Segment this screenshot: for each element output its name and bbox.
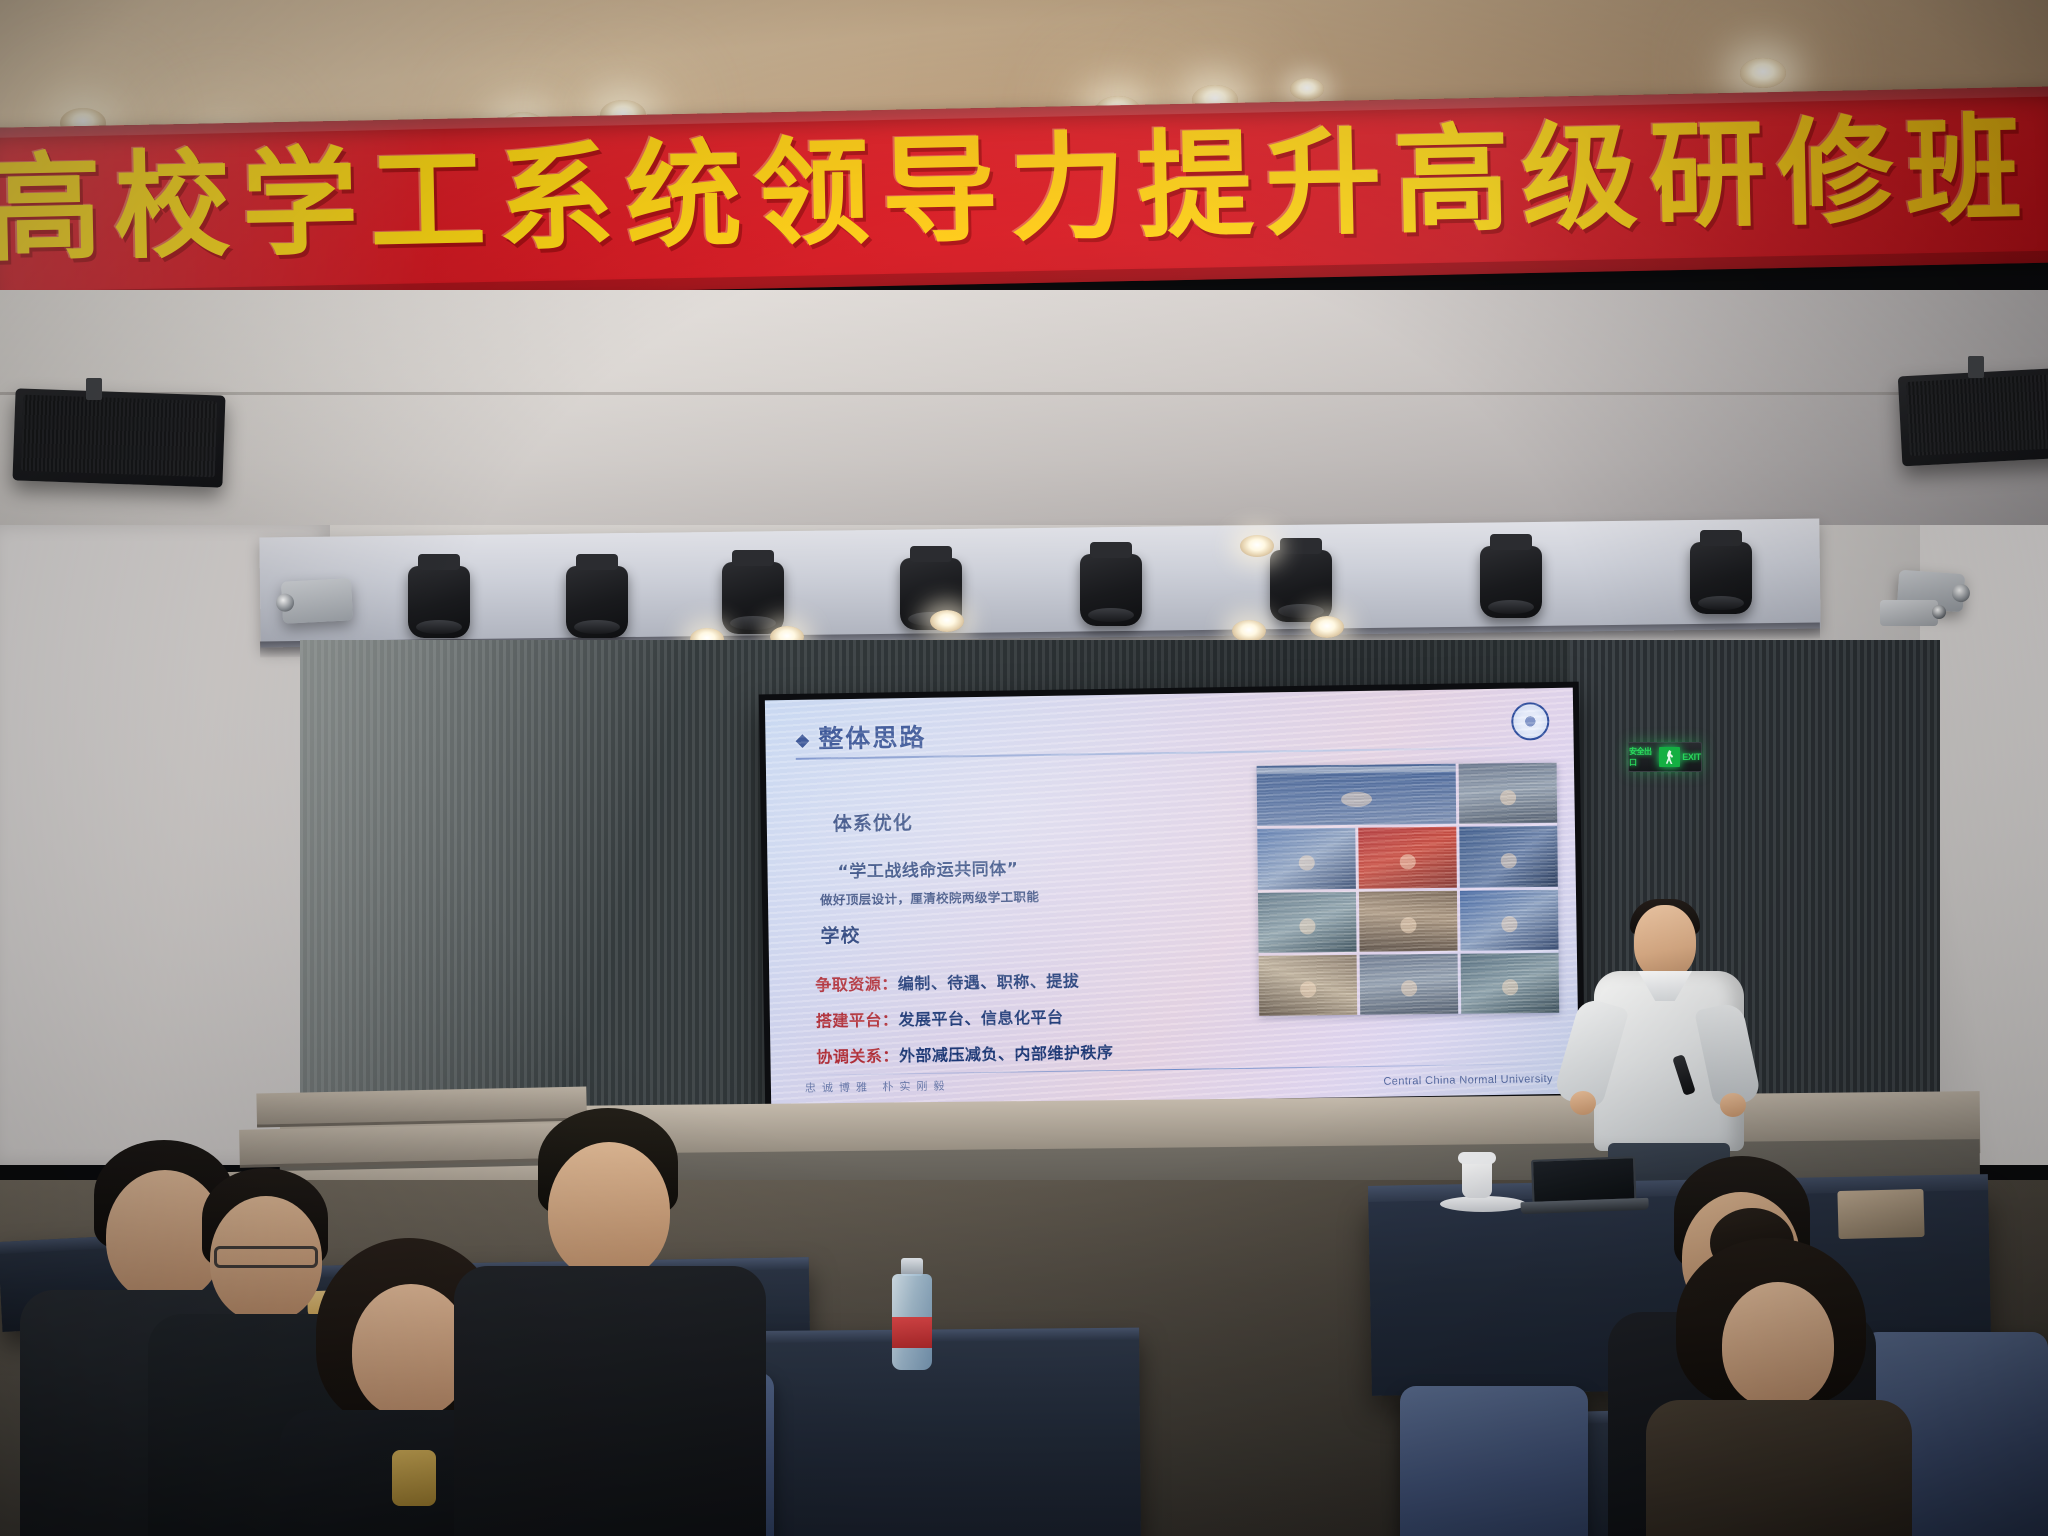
truss-downlight: [1240, 535, 1274, 557]
person-head: [352, 1284, 470, 1418]
slide-row-key: 协调关系：: [816, 1046, 899, 1066]
running-man-icon: [1659, 747, 1680, 767]
collage-figure: [1340, 791, 1372, 807]
truss-downlight: [1232, 620, 1266, 642]
wall-trim-line: [0, 392, 2048, 395]
collage-photo: [1257, 828, 1356, 889]
presentation-slide: ◆整体思路 体系优化 “学工战线命运共同体” 做好顶层设计，厘清校院两级学工职能…: [765, 688, 1579, 1107]
person-torso: [454, 1266, 766, 1536]
stage-spotlight: [1080, 554, 1142, 626]
collage-figure: [1299, 855, 1315, 871]
bullet-diamond-icon: ◆: [795, 730, 811, 751]
collage-figure: [1501, 916, 1517, 932]
collage-figure: [1401, 980, 1417, 996]
collage-photo: [1459, 763, 1558, 824]
collage-photo: [1359, 890, 1458, 951]
spotlight-lens: [574, 620, 620, 634]
collage-figure: [1500, 790, 1516, 806]
collage-photo: [1360, 954, 1459, 1015]
collage-figure: [1400, 854, 1416, 870]
presenter-right-hand: [1720, 1093, 1746, 1117]
stage-spotlight: [566, 566, 628, 638]
collage-figure: [1501, 853, 1517, 869]
camera: [1880, 600, 1938, 626]
slide-photo-collage: [1257, 763, 1560, 1016]
paper-cup: [1462, 1158, 1492, 1198]
stage-spotlight: [722, 562, 784, 634]
water-bottle: [892, 1258, 932, 1370]
upper-wall: [0, 290, 2048, 540]
collage-photo: [1460, 889, 1559, 950]
slide-footer-university: Central China Normal University: [1383, 1073, 1553, 1088]
spotlight-lens: [1088, 608, 1134, 622]
audience-chair: [1400, 1386, 1588, 1536]
saucer: [1440, 1196, 1526, 1212]
presenter-head: [1634, 905, 1696, 979]
speaker-grille: [21, 395, 218, 478]
collage-photo: [1259, 955, 1358, 1016]
pa-speaker-right: [1898, 368, 2048, 467]
speaker-grille: [1906, 374, 2048, 456]
slide-title-text: 整体思路: [818, 723, 926, 754]
ceiling-downlight: [1740, 58, 1786, 88]
cup-lid: [1458, 1152, 1496, 1164]
speaker-mount-right: [1968, 356, 1984, 378]
collage-figure: [1400, 917, 1416, 933]
slide-row-value: 发展平台、信息化平台: [898, 1008, 1063, 1030]
slide-footer-motto: 忠诚博雅 朴实刚毅: [805, 1078, 951, 1096]
slide-row: 协调关系：外部减压减负、内部维护秩序: [816, 1039, 1113, 1068]
slide-row-value: 外部减压减负、内部维护秩序: [899, 1043, 1114, 1065]
exit-sign-label-cn: 安全出口: [1629, 746, 1657, 768]
collage-figure: [1299, 918, 1315, 934]
stage-spotlight: [1480, 546, 1542, 618]
bottle-body: [892, 1274, 932, 1370]
upper-wall-shading: [0, 290, 2048, 540]
slide-row: 搭建平台：发展平台、信息化平台: [816, 1004, 1064, 1032]
slide-quote: “学工战线命运共同体”: [837, 854, 1018, 882]
slide-subtitle: 做好顶层设计，厘清校院两级学工职能: [820, 886, 1040, 908]
smartphone: [392, 1450, 436, 1506]
collage-photo-caption-bar: [1257, 766, 1456, 774]
collage-photo: [1461, 952, 1560, 1013]
projector-left: [281, 578, 353, 624]
laptop-screen: [1531, 1156, 1636, 1204]
spotlight-lens: [730, 616, 776, 630]
projector-lens: [276, 593, 295, 612]
collage-figure: [1300, 982, 1316, 998]
university-logo: [1511, 702, 1550, 741]
collage-figure: [1502, 979, 1518, 995]
collage-photo: [1258, 891, 1357, 952]
slide-row-key: 搭建平台：: [816, 1010, 899, 1030]
slide-row-value: 编制、待遇、职称、提拔: [898, 971, 1080, 993]
presenter-left-hand: [1570, 1091, 1596, 1115]
person-head: [1722, 1282, 1834, 1408]
speaker-mount-left: [86, 378, 102, 400]
spotlight-lens: [416, 620, 462, 634]
stage-spotlight: [1690, 542, 1752, 614]
stage-spotlight: [1270, 550, 1332, 622]
ceiling-downlight: [1290, 78, 1324, 100]
collage-photo: [1459, 826, 1558, 887]
stage-spotlight: [408, 566, 470, 638]
slide-section-heading: 体系优化: [833, 808, 913, 836]
spotlight-lens: [1698, 596, 1744, 610]
emergency-exit-sign: 安全出口 EXIT: [1628, 742, 1702, 772]
slide-group-label: 学校: [820, 921, 860, 949]
collage-photo: [1257, 764, 1457, 826]
slide-row: 争取资源：编制、待遇、职称、提拔: [815, 967, 1079, 995]
spotlight-lens: [1278, 604, 1324, 618]
person-torso: [1646, 1400, 1912, 1536]
bottle-label: [892, 1317, 932, 1348]
truss-downlight: [930, 610, 964, 632]
conference-hall-scene: 高校学工系统领导力提升高级研修班: [0, 0, 2048, 1536]
truss-downlight: [1310, 616, 1344, 638]
person-head: [548, 1142, 670, 1280]
exit-sign-label-en: EXIT: [1682, 752, 1701, 762]
slide-title: ◆整体思路: [795, 718, 926, 756]
led-display-screen: ◆整体思路 体系优化 “学工战线命运共同体” 做好顶层设计，厘清校院两级学工职能…: [759, 682, 1585, 1113]
spotlight-lens: [1488, 600, 1534, 614]
collage-photo: [1358, 827, 1457, 888]
audience-member: [1636, 1214, 1916, 1536]
pa-speaker-left: [12, 388, 225, 487]
slide-row-key: 争取资源：: [815, 974, 898, 994]
audience-member: [460, 1108, 760, 1536]
